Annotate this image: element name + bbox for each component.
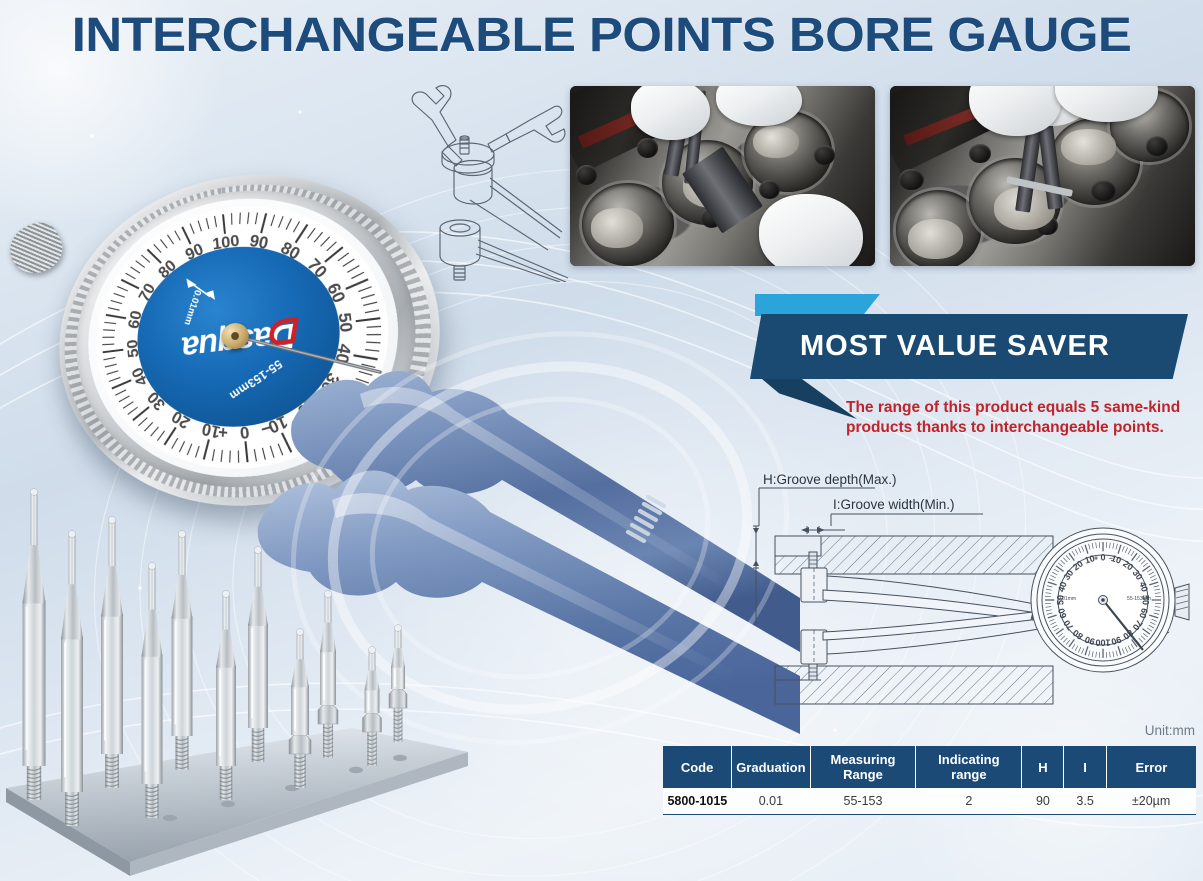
label-groove-width: I:Groove width(Min.) [833, 497, 955, 512]
table-header-row: Code Graduation Measuring Range Indicati… [663, 746, 1196, 788]
th-graduation: Graduation [732, 746, 810, 788]
measuring-point [101, 517, 123, 788]
unit-note: Unit:mm [1145, 723, 1195, 738]
diagram-dial-range: 55-153mm [1127, 596, 1151, 602]
interchangeable-measuring-points-set [0, 470, 470, 881]
diagram-dial-gauge: 0102030405060708090100908070605040302010… [1023, 516, 1195, 684]
svg-text:100: 100 [1095, 638, 1110, 648]
product-photo-left [570, 86, 875, 266]
groove-measurement-diagram: H:Groove depth(Max.) I:Groove width(Min.… [745, 468, 1203, 708]
td-error: ±20µm [1106, 788, 1196, 815]
diagram-dial-graduation: 0.01mm [1058, 596, 1076, 602]
most-value-saver-banner: MOST VALUE SAVER The range of this produ… [750, 294, 1192, 424]
label-groove-depth: H:Groove depth(Max.) [763, 472, 897, 487]
product-photo-right [890, 86, 1195, 266]
specification-table: Code Graduation Measuring Range Indicati… [663, 746, 1196, 815]
th-measuring-range: Measuring Range [810, 746, 916, 788]
svg-text:+: + [1094, 555, 1098, 562]
measuring-point [142, 563, 163, 818]
measuring-point [172, 531, 193, 770]
measuring-point [61, 531, 83, 826]
table-row: 5800-1015 0.01 55-153 2 90 3.5 ±20µm [663, 788, 1196, 815]
banner-subtext: The range of this product equals 5 same-… [846, 398, 1196, 439]
measuring-point [23, 489, 46, 800]
th-code: Code [663, 746, 732, 788]
td-code: 5800-1015 [663, 788, 732, 815]
dial-knurled-stem [2, 216, 69, 281]
td-i: 3.5 [1064, 788, 1106, 815]
td-measuring-range: 55-153 [810, 788, 916, 815]
banner-main-ribbon: MOST VALUE SAVER [750, 314, 1188, 379]
svg-text:–: – [1109, 555, 1113, 562]
svg-text:0: 0 [1100, 552, 1105, 562]
td-h: 90 [1022, 788, 1064, 815]
measuring-point [248, 547, 268, 762]
th-h: H [1022, 746, 1064, 788]
th-error: Error [1106, 746, 1196, 788]
banner-accent-tab [755, 294, 880, 316]
banner-headline: MOST VALUE SAVER [800, 330, 1110, 363]
th-i: I [1064, 746, 1106, 788]
measuring-point [389, 625, 407, 742]
td-indicating-range: 2 [916, 788, 1022, 815]
banner-tail-shape [762, 379, 857, 419]
page-title: INTERCHANGEABLE POINTS BORE GAUGE [0, 8, 1203, 63]
th-indicating-range: Indicating range [916, 746, 1022, 788]
td-graduation: 0.01 [732, 788, 810, 815]
